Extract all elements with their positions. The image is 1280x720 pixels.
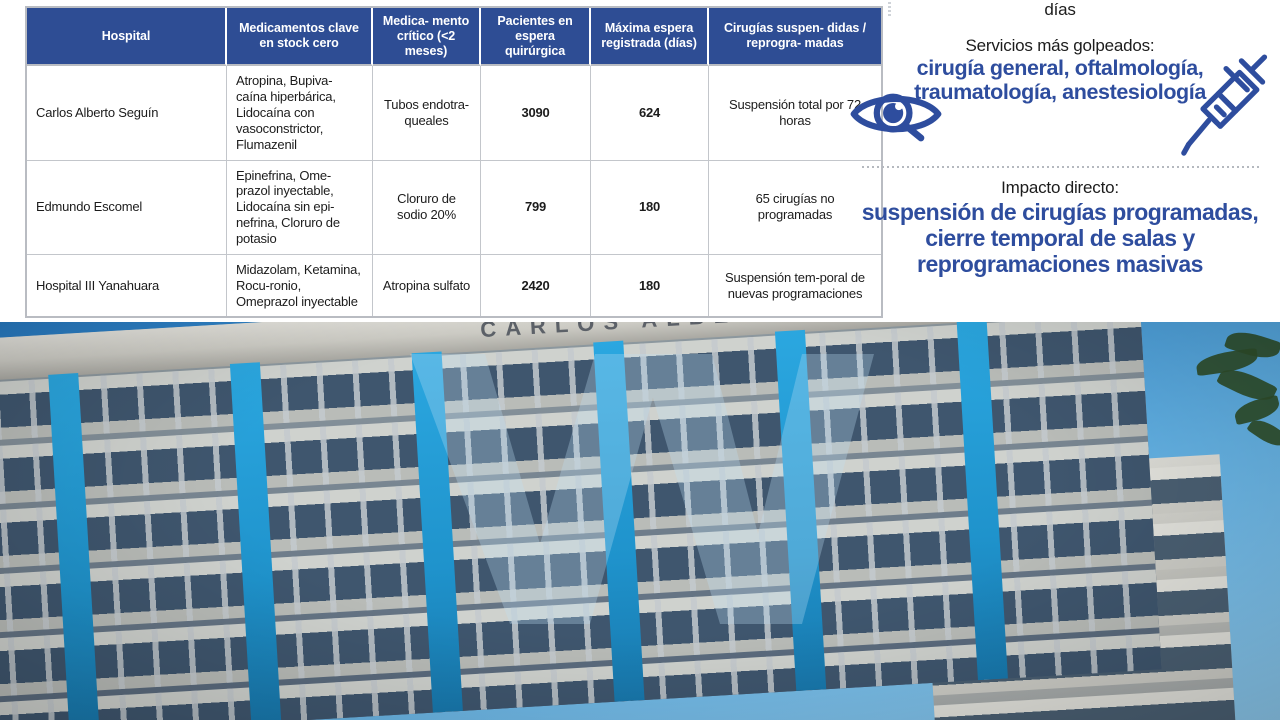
cell-meds-stock-zero: Epinefrina, Ome-prazol inyectable, Lidoc… <box>227 161 373 255</box>
impact-value: suspensión de cirugías programadas, cier… <box>850 199 1270 278</box>
section-seam <box>0 318 1280 322</box>
column-header-meds-stock-zero: Medicamentos clave en stock cero <box>227 8 373 66</box>
table-header: Hospital Medicamentos clave en stock cer… <box>27 8 881 66</box>
infographic-top-section: Hospital Medicamentos clave en stock cer… <box>0 0 1280 322</box>
table-row: Edmundo Escomel Epinefrina, Ome-prazol i… <box>27 161 881 255</box>
syringe-icon <box>1180 52 1276 162</box>
cell-patients-waiting: 3090 <box>481 66 591 160</box>
cell-hospital: Hospital III Yanahuara <box>27 255 227 317</box>
summary-side-panel: días Servicios más golpeados: cirugía ge… <box>840 0 1280 322</box>
partial-top-row: días <box>840 0 1280 26</box>
cell-critical-med: Cloruro de sodio 20% <box>373 161 481 255</box>
services-value: cirugía general, oftalmología, traumatol… <box>900 56 1220 104</box>
column-header-patients-waiting: Pacientes en espera quirúrgica <box>481 8 591 66</box>
hospital-building-photo: CARLOS ALBERTO SEGUÍN ESCOBEDO <box>0 322 1280 720</box>
cell-critical-med: Atropina sulfato <box>373 255 481 317</box>
cell-max-wait-days: 180 <box>591 161 709 255</box>
hospital-data-table-panel: Hospital Medicamentos clave en stock cer… <box>25 6 825 316</box>
table-header-row: Hospital Medicamentos clave en stock cer… <box>27 8 881 66</box>
cell-max-wait-days: 624 <box>591 66 709 160</box>
hospital-data-table: Hospital Medicamentos clave en stock cer… <box>25 6 883 318</box>
table-row: Carlos Alberto Seguín Atropina, Bupiva-c… <box>27 66 881 160</box>
cell-meds-stock-zero: Atropina, Bupiva-caína hiperbárica, Lido… <box>227 66 373 160</box>
cell-patients-waiting: 2420 <box>481 255 591 317</box>
column-header-hospital: Hospital <box>27 8 227 66</box>
cell-patients-waiting: 799 <box>481 161 591 255</box>
dotted-divider <box>862 166 1262 168</box>
partial-days-label: días <box>940 0 1180 20</box>
tree-foliage <box>1130 330 1280 460</box>
column-header-max-wait-days: Máxima espera registrada (días) <box>591 8 709 66</box>
cell-hospital: Carlos Alberto Seguín <box>27 66 227 160</box>
cell-critical-med: Tubos endotra-queales <box>373 66 481 160</box>
cell-hospital: Edmundo Escomel <box>27 161 227 255</box>
table-body: Carlos Alberto Seguín Atropina, Bupiva-c… <box>27 66 881 316</box>
cell-meds-stock-zero: Midazolam, Ketamina, Rocu-ronio, Omepraz… <box>227 255 373 317</box>
eye-search-icon <box>848 84 944 144</box>
impact-heading: Impacto directo: <box>840 178 1280 198</box>
table-row: Hospital III Yanahuara Midazolam, Ketami… <box>27 255 881 317</box>
column-header-critical-med: Medica- mento crítico (<2 meses) <box>373 8 481 66</box>
cell-max-wait-days: 180 <box>591 255 709 317</box>
vertical-dots-icon <box>888 2 891 18</box>
hospital-main-building: CARLOS ALBERTO SEGUÍN ESCOBEDO <box>0 322 1162 720</box>
